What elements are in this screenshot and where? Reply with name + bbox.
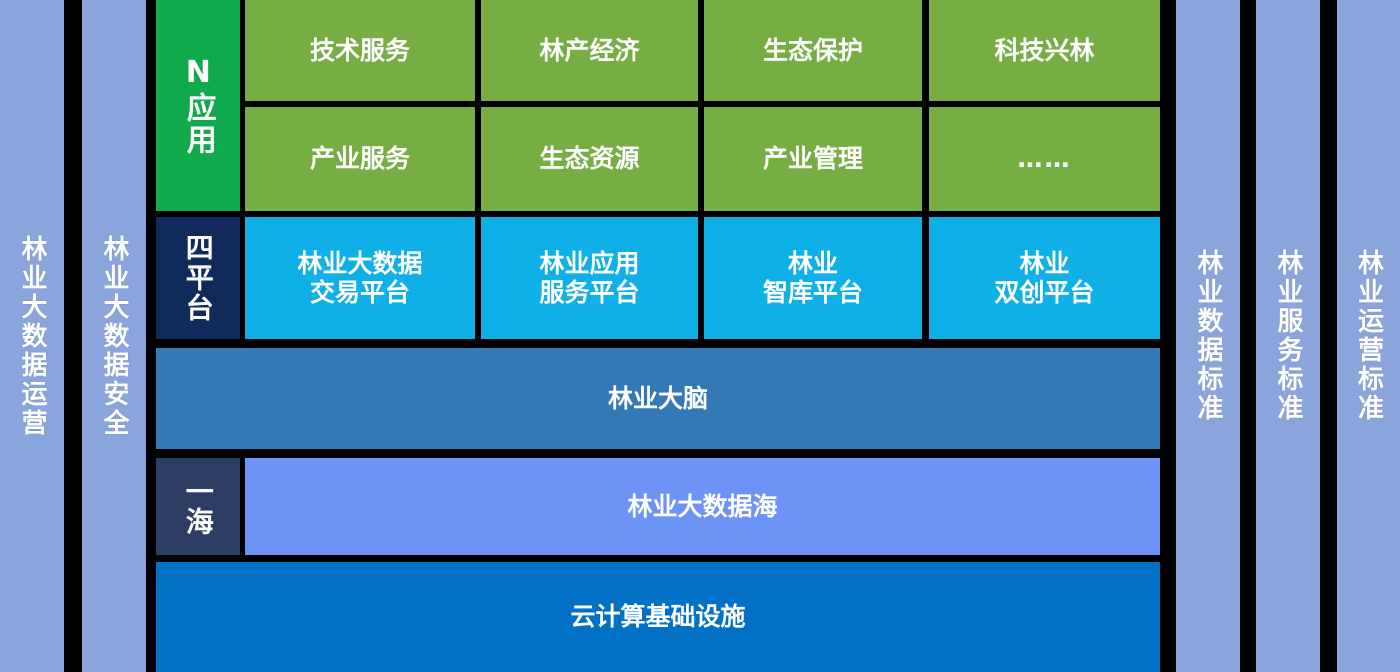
layer-label-text: 一海 xyxy=(183,477,212,537)
layer-label-one-sea: 一海 xyxy=(156,458,240,555)
layer-label-four-platforms: 四平台 xyxy=(156,217,240,339)
platform-cell-label: 林业大数据 交易平台 xyxy=(297,249,422,308)
platform-cell-label: 林业 双创平台 xyxy=(994,249,1094,308)
platform-cell-application-service[interactable]: 林业应用 服务平台 xyxy=(481,217,698,339)
layer-label-n-applications: N应用 xyxy=(156,0,240,211)
layer-label-text: 四平台 xyxy=(183,233,212,323)
app-cell-industry-management[interactable]: 产业管理 xyxy=(704,107,922,211)
layer-bar-forestry-brain[interactable]: 林业大脑 xyxy=(156,348,1160,449)
app-cell-forest-product-economy[interactable]: 林产经济 xyxy=(481,0,698,101)
app-cell-label: 生态资源 xyxy=(539,144,639,174)
platform-label-line2: 交易平台 xyxy=(310,278,410,307)
side-column-label: 林业数据标准 xyxy=(1195,249,1221,423)
side-column-forestry-service-standard: 林业服务标准 xyxy=(1256,0,1320,672)
platform-label-line2: 双创平台 xyxy=(994,278,1094,307)
app-cell-label: …… xyxy=(1018,144,1072,174)
layer-bar-cloud-infrastructure[interactable]: 云计算基础设施 xyxy=(156,562,1160,672)
app-cell-label: 生态保护 xyxy=(763,36,863,66)
app-cell-technology-rejuvenate-forestry[interactable]: 科技兴林 xyxy=(929,0,1160,101)
app-cell-technical-service[interactable]: 技术服务 xyxy=(245,0,475,101)
platform-label-line2: 智库平台 xyxy=(763,278,863,307)
platform-cell-innovation[interactable]: 林业 双创平台 xyxy=(929,217,1160,339)
platform-cell-label: 林业 智库平台 xyxy=(763,249,863,308)
platform-cell-bigdata-trading[interactable]: 林业大数据 交易平台 xyxy=(245,217,475,339)
side-column-label: 林业服务标准 xyxy=(1275,249,1301,423)
platform-label-line2: 服务平台 xyxy=(539,278,639,307)
layer-bar-label: 林业大数据海 xyxy=(627,492,777,522)
platform-label-line1: 林业 xyxy=(788,249,838,278)
side-column-label: 林业大数据安全 xyxy=(101,235,127,438)
side-column-forestry-bigdata-operation: 林业大数据运营 xyxy=(0,0,64,672)
app-cell-label: 技术服务 xyxy=(310,36,410,66)
app-cell-industry-service[interactable]: 产业服务 xyxy=(245,107,475,211)
app-cell-ecological-resources[interactable]: 生态资源 xyxy=(481,107,698,211)
side-column-forestry-operation-standard: 林业运营标准 xyxy=(1337,0,1400,672)
side-column-forestry-data-standard: 林业数据标准 xyxy=(1176,0,1240,672)
app-cell-ecological-protection[interactable]: 生态保护 xyxy=(704,0,922,101)
layer-bar-forestry-bigdata-sea[interactable]: 林业大数据海 xyxy=(245,458,1160,555)
platform-label-line1: 林业 xyxy=(1019,249,1069,278)
layer-bar-label: 云计算基础设施 xyxy=(570,602,745,632)
app-cell-label: 林产经济 xyxy=(539,36,639,66)
side-column-label: 林业大数据运营 xyxy=(19,235,45,438)
side-column-label: 林业运营标准 xyxy=(1356,249,1382,423)
platform-cell-think-tank[interactable]: 林业 智库平台 xyxy=(704,217,922,339)
architecture-diagram: 林业大数据运营 林业大数据安全 林业数据标准 林业服务标准 林业运营标准 N应用… xyxy=(0,0,1400,672)
app-cell-more-ellipsis[interactable]: …… xyxy=(929,107,1160,211)
side-column-forestry-bigdata-security: 林业大数据安全 xyxy=(82,0,146,672)
app-cell-label: 产业管理 xyxy=(763,144,863,174)
platform-cell-label: 林业应用 服务平台 xyxy=(539,249,639,308)
layer-bar-label: 林业大脑 xyxy=(608,384,708,414)
layer-label-text: N应用 xyxy=(182,55,214,156)
platform-label-line1: 林业大数据 xyxy=(297,249,422,278)
app-cell-label: 产业服务 xyxy=(310,144,410,174)
app-cell-label: 科技兴林 xyxy=(994,36,1094,66)
platform-label-line1: 林业应用 xyxy=(539,249,639,278)
